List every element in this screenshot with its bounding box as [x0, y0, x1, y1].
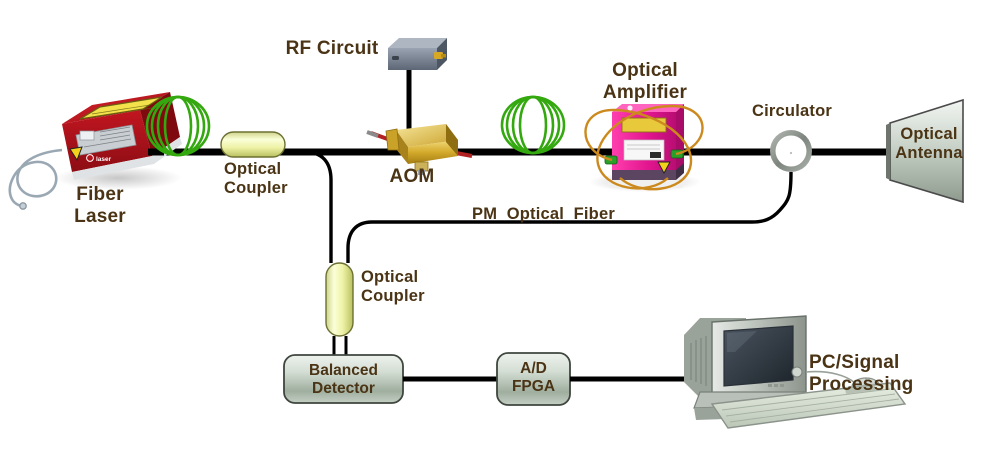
optical-amplifier-device [585, 104, 702, 192]
label-optical-coupler-top: Optical Coupler [224, 160, 288, 198]
label-circulator: Circulator [737, 102, 847, 121]
fiber-coil-2 [502, 97, 564, 153]
circulator-device [770, 130, 812, 172]
optical-coupler-top-device [221, 132, 285, 157]
label-pm-optical-fiber: PM Optical Fiber [472, 205, 615, 224]
label-pc-signal-processing: PC/Signal Processing [809, 352, 913, 396]
label-rf-circuit: RF Circuit [262, 38, 402, 60]
label-balanced-detector: Balanced Detector [284, 362, 403, 398]
tap-fiber-path [285, 152, 331, 263]
label-ad-fpga: A/D FPGA [497, 360, 570, 396]
label-optical-amplifier: Optical Amplifier [583, 60, 707, 104]
label-aom: AOM [372, 166, 452, 188]
label-fiber-laser: Fiber Laser [46, 184, 154, 228]
optical-coupler-bottom-device [326, 263, 353, 336]
svg-text:laser: laser [96, 156, 112, 163]
label-optical-coupler-bottom: Optical Coupler [361, 268, 425, 306]
label-optical-antenna: Optical Antenna [890, 125, 968, 163]
diagram-canvas: laser [0, 0, 1000, 465]
